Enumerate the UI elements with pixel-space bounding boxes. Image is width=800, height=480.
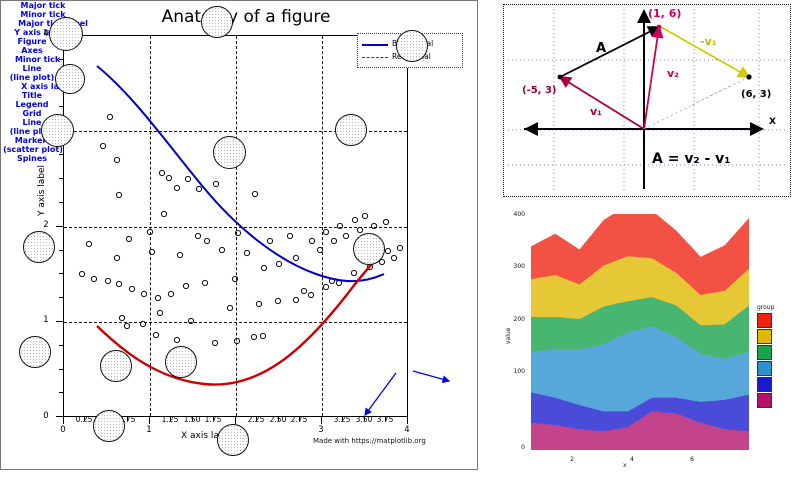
ytick-major-1 <box>56 321 63 322</box>
xtick-minor-label-150: 1.50 <box>182 415 202 424</box>
ytick-minor-d <box>59 297 63 298</box>
ytick-minor-l <box>59 59 63 60</box>
ytick-minor-j <box>59 106 63 107</box>
vector-equation: A = v₂ - v₁ <box>652 151 730 167</box>
annotation-title: Title <box>1 91 63 100</box>
xtick-minor-label-250: 2.50 <box>268 415 288 424</box>
callout-circle-minor-tick <box>55 64 85 94</box>
ytick-minor-h <box>59 178 63 179</box>
ytick-major-0 <box>56 416 63 417</box>
area-ytick-100: 100 <box>507 368 525 375</box>
area-ytick-0: 0 <box>507 444 525 451</box>
xtick-label-4: 4 <box>400 425 414 435</box>
legend-line-blue <box>362 44 388 46</box>
xtick-label-0: 0 <box>56 425 70 435</box>
area-legend[interactable]: group <box>757 304 791 409</box>
xtick-major-1 <box>149 417 150 424</box>
xtick-label-3: 3 <box>314 425 328 435</box>
callout-circle-grid <box>335 114 367 146</box>
ytick-label-0: 0 <box>39 411 53 421</box>
callout-circle-x-axis-label <box>217 424 249 456</box>
y-axis-label-text: Y axis label <box>37 165 47 216</box>
annotation-major-tick: Major tick <box>1 1 85 10</box>
ytick-minor-i <box>59 154 63 155</box>
xtick-minor-label-125: 1.25 <box>160 415 180 424</box>
screenshot-root: Anatomy of a figure <box>0 0 800 480</box>
vector-diagram-svg <box>504 5 789 195</box>
area-ytick-200: 200 <box>507 316 525 323</box>
xtick-label-1: 1 <box>142 425 156 435</box>
ytick-major-2 <box>56 226 63 227</box>
vector-diagram-panel: (1, 6) (-5, 3) (6, 3) A v₂ v₁ -v₁ X A = … <box>503 4 791 197</box>
area-xtick-4: 4 <box>625 456 639 463</box>
credit-text: Made with https://matplotlib.org <box>313 437 426 445</box>
callout-circle-line-plot-bottom <box>165 346 197 378</box>
vector-point-label-neg5-3: (-5, 3) <box>522 85 557 96</box>
vector-label-A: A <box>596 41 606 56</box>
callout-circle-line-plot-top <box>213 136 246 169</box>
callout-circle-minor-tick-label <box>93 410 125 442</box>
callout-circle-major-tick-label <box>41 114 74 147</box>
xtick-minor-label-225: 2.25 <box>246 415 266 424</box>
vector-label-v2: v₂ <box>667 67 679 80</box>
annotation-axes: Axes <box>1 46 63 55</box>
xtick-minor-label-350: 3.50 <box>354 415 374 424</box>
callout-circle-major-tick <box>49 17 83 51</box>
ytick-minor-g <box>59 202 63 203</box>
area-ytick-400: 400 <box>507 211 525 218</box>
area-legend-items <box>757 313 791 408</box>
callout-circle-markers <box>353 233 385 265</box>
annotation-line-plot-bottom-l1: Line <box>23 64 42 73</box>
xtick-minor-label-275: 2.75 <box>289 415 309 424</box>
area-x-axis-label: x <box>623 462 627 469</box>
vector-label-neg-v1: -v₁ <box>700 35 717 48</box>
area-ytick-300: 300 <box>507 263 525 270</box>
callout-circle-y-axis-label <box>23 231 55 263</box>
area-legend-swatch-E[interactable] <box>757 377 772 392</box>
ytick-label-1: 1 <box>39 315 53 325</box>
xtick-minor-label-325: 3.25 <box>332 415 352 424</box>
vector-point-label-6-3: (6, 3) <box>741 89 771 100</box>
annotation-line-plot-bottom: Line (line plot) <box>1 64 63 82</box>
legend-line-red <box>362 57 388 58</box>
xtick-minor-label-025: 0.25 <box>74 415 94 424</box>
ytick-minor-b <box>59 369 63 370</box>
area-legend-swatch-A[interactable] <box>757 313 772 328</box>
ytick-minor-a <box>59 392 63 393</box>
area-xtick-2: 2 <box>565 456 579 463</box>
area-legend-title: group <box>757 304 791 311</box>
vector-point-label-1-6: (1, 6) <box>648 7 681 20</box>
stacked-area-panel: 400 300 200 100 0 2 4 6 value x group <box>503 206 793 478</box>
annotation-line-plot-bottom-l2: (line plot) <box>10 73 55 82</box>
ytick-minor-f <box>59 250 63 251</box>
area-legend-swatch-F[interactable] <box>757 393 772 408</box>
xtick-major-0 <box>63 417 64 424</box>
callout-circle-title <box>201 6 233 38</box>
stacked-area-plot <box>531 214 749 450</box>
callout-circle-figure <box>19 336 51 368</box>
callout-circle-legend <box>396 30 428 62</box>
ytick-minor-c <box>59 345 63 346</box>
xtick-minor-label-175: 1.75 <box>203 415 223 424</box>
xtick-minor-label-375: 3.75 <box>375 415 395 424</box>
xtick-major-4 <box>407 417 408 424</box>
anatomy-figure-panel: Anatomy of a figure <box>0 0 478 470</box>
ytick-label-2: 2 <box>39 220 53 230</box>
annotation-legend: Legend <box>1 100 63 109</box>
vector-label-v1: v₁ <box>590 105 602 118</box>
area-y-axis-label: value <box>505 328 512 344</box>
area-legend-swatch-D[interactable] <box>757 361 772 376</box>
annotation-spines: Spines <box>1 154 63 163</box>
figure-title: Anatomy of a figure <box>121 7 371 27</box>
area-legend-swatch-B[interactable] <box>757 329 772 344</box>
stacked-area-svg <box>531 214 749 450</box>
area-legend-swatch-C[interactable] <box>757 345 772 360</box>
vector-x-axis-label: X <box>769 117 776 127</box>
xtick-major-3 <box>321 417 322 424</box>
area-xtick-6: 6 <box>685 456 699 463</box>
callout-circle-axes <box>100 350 132 382</box>
ytick-minor-e <box>59 273 63 274</box>
xtick-major-2 <box>235 417 236 424</box>
